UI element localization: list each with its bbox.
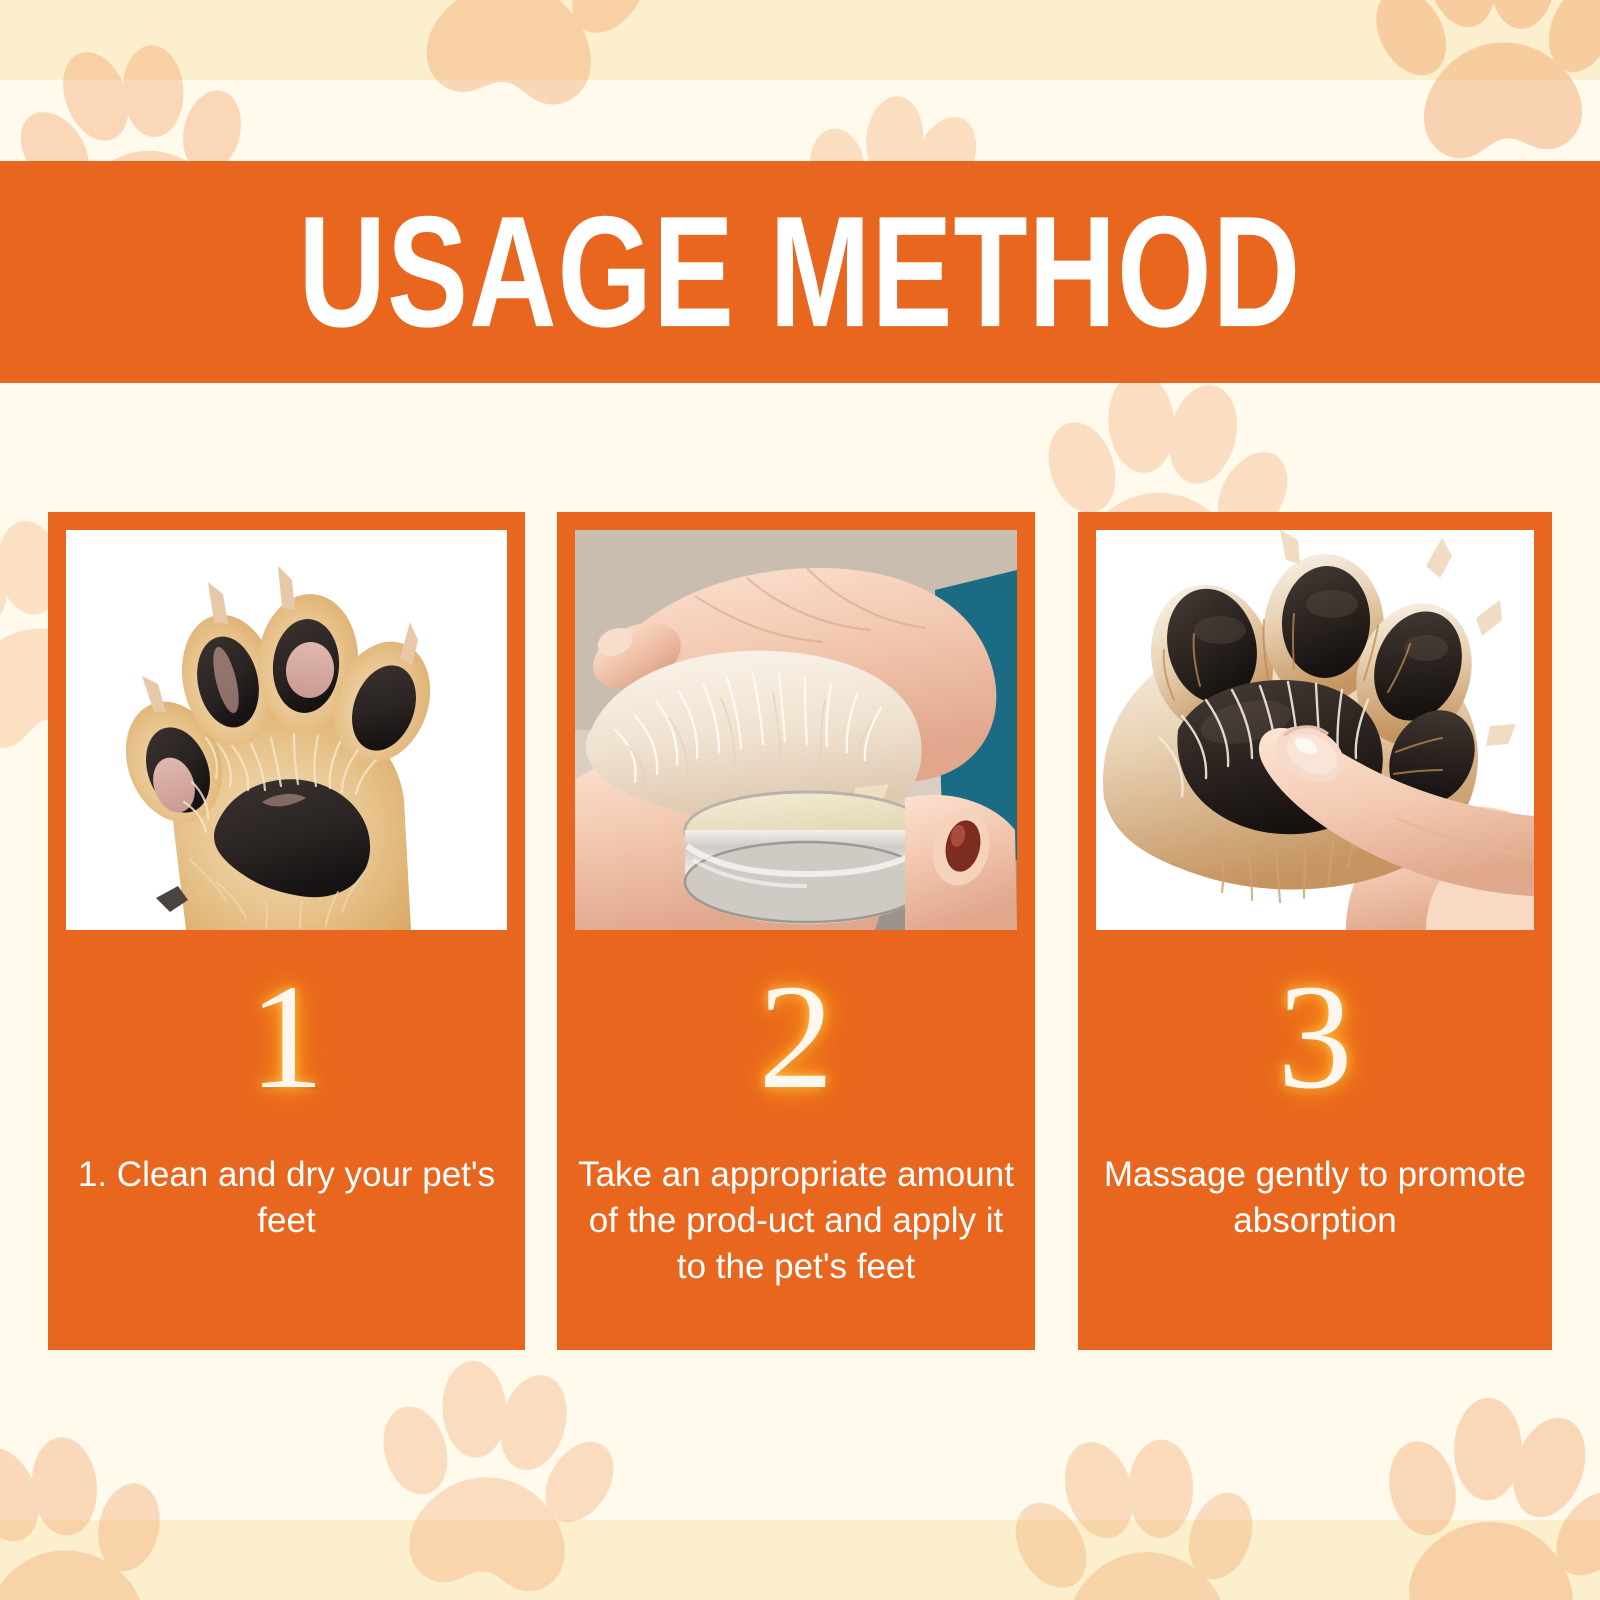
step-number-1: 1 bbox=[48, 952, 525, 1132]
step-caption-2: Take an appropriate amount of the prod-u… bbox=[571, 1152, 1021, 1290]
paw-in-balm-tin-photo bbox=[575, 530, 1017, 930]
step-number-3: 3 bbox=[1078, 952, 1552, 1132]
background-band-top bbox=[0, 0, 1600, 80]
finger-massaging-paw-photo bbox=[1096, 530, 1534, 930]
header-banner: USAGE METHOD bbox=[0, 161, 1600, 383]
step-card-2[interactable]: 2 Take an appropriate amount of the prod… bbox=[557, 512, 1035, 1350]
background-band-bottom bbox=[0, 1520, 1600, 1600]
step-caption-3: Massage gently to promote absorption bbox=[1092, 1152, 1538, 1244]
step-caption-1: 1. Clean and dry your pet's feet bbox=[62, 1152, 511, 1244]
step-card-3[interactable]: 3 Massage gently to promote absorption bbox=[1078, 512, 1552, 1350]
step-1-photo-frame bbox=[66, 530, 507, 930]
step-card-1[interactable]: 1 1. Clean and dry your pet's feet bbox=[48, 512, 525, 1350]
step-2-photo-frame bbox=[575, 530, 1017, 930]
page-title: USAGE METHOD bbox=[299, 193, 1302, 351]
paw-pads-closeup-photo bbox=[66, 530, 507, 930]
step-3-photo-frame bbox=[1096, 530, 1534, 930]
usage-method-infographic: USAGE METHOD bbox=[0, 0, 1600, 1600]
step-number-2: 2 bbox=[557, 952, 1035, 1132]
